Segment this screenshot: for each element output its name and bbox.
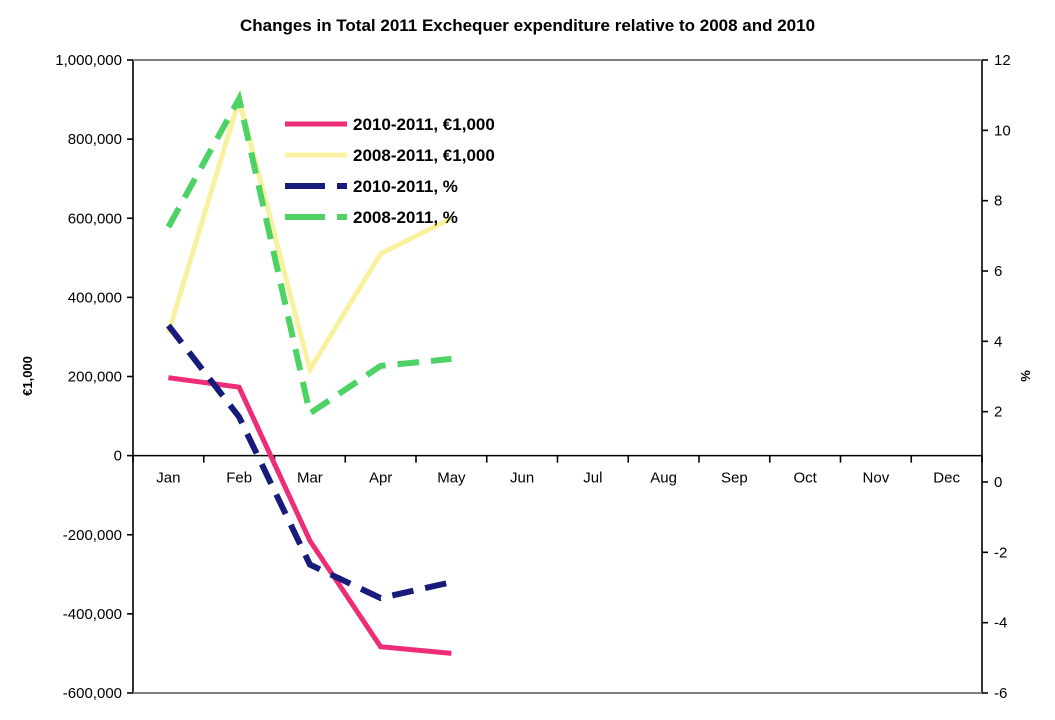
x-tick-label: Nov [863,470,890,487]
right-axis: 121086420-2-4-6 [982,52,1011,702]
y-tick-label: 800,000 [68,131,122,148]
y2-tick-label: 10 [994,122,1011,139]
y-tick-label: -600,000 [63,685,122,702]
left-axis: 1,000,000800,000600,000400,000200,0000-2… [55,52,133,702]
y2-tick-label: 4 [994,333,1002,350]
y-tick-label: 1,000,000 [55,52,122,69]
y-tick-label: 0 [114,448,122,465]
series-line-1 [168,100,451,370]
legend-label-1: 2008-2011, €1,000 [353,146,495,165]
y2-tick-label: 8 [994,193,1002,210]
chart-plot-svg: 1,000,000800,000600,000400,000200,0000-2… [0,0,1055,720]
x-tick-label: Jan [156,470,180,487]
y-tick-label: -200,000 [63,527,122,544]
legend-label-3: 2008-2011, % [353,208,458,227]
y2-tick-label: 6 [994,263,1002,280]
chart-container: Changes in Total 2011 Exchequer expendit… [0,0,1055,720]
y2-tick-label: 0 [994,474,1002,491]
y-tick-label: 200,000 [68,369,122,386]
y2-tick-label: 2 [994,404,1002,421]
x-tick-label: Apr [369,470,392,487]
x-tick-label: Jun [510,470,534,487]
x-tick-label: Mar [297,470,323,487]
series-line-0 [168,378,451,654]
y-tick-label: -400,000 [63,606,122,623]
y2-tick-label: -4 [994,615,1007,632]
x-tick-label: Aug [650,470,677,487]
legend-label-0: 2010-2011, €1,000 [353,115,495,134]
x-tick-label: Jul [583,470,602,487]
y-tick-label: 400,000 [68,289,122,306]
y2-axis-title: % [1018,370,1033,382]
legend-label-2: 2010-2011, % [353,177,458,196]
y-tick-label: 600,000 [68,210,122,227]
x-tick-label: Dec [933,470,960,487]
x-tick-label: Oct [793,470,817,487]
x-tick-label: Feb [226,470,252,487]
y2-tick-label: -6 [994,685,1007,702]
y-axis-title: €1,000 [20,356,35,396]
x-tick-label: May [437,470,466,487]
x-tick-label: Sep [721,470,748,487]
chart-legend: 2010-2011, €1,0002008-2011, €1,0002010-2… [285,115,495,227]
x-axis: JanFebMarAprMayJunJulAugSepOctNovDec [133,60,982,693]
y2-tick-label: -2 [994,544,1007,561]
y2-tick-label: 12 [994,52,1011,69]
